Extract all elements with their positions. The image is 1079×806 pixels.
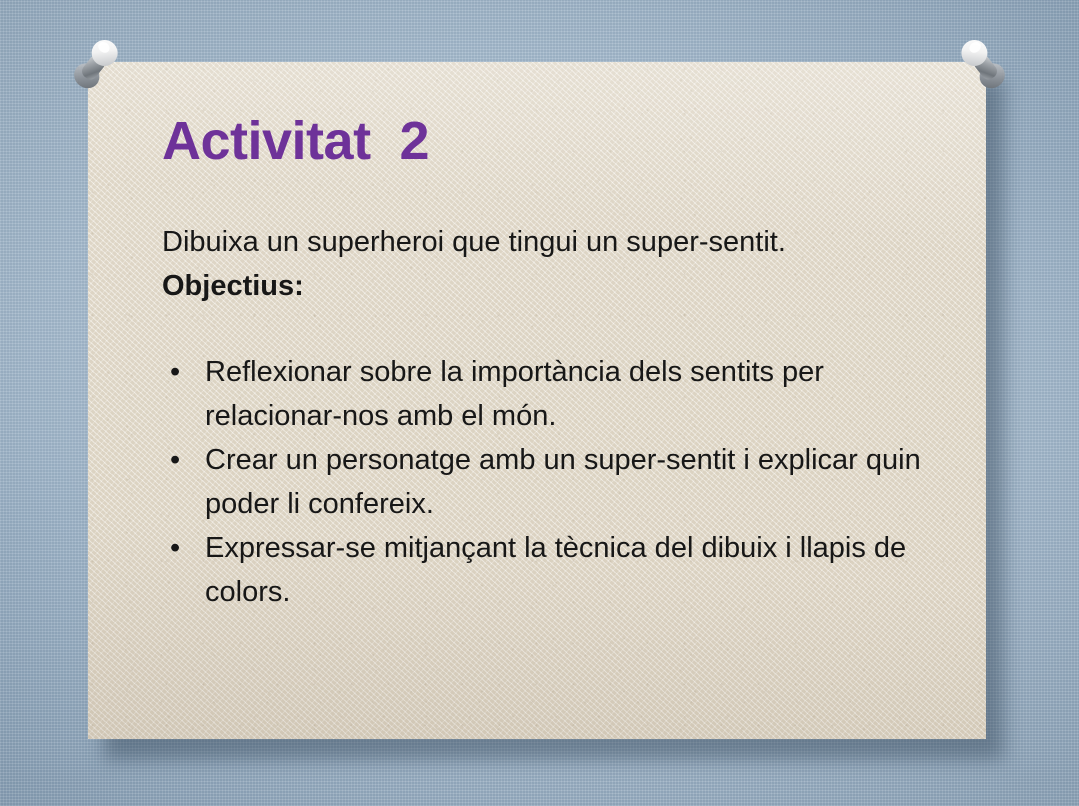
page-title: Activitat 2 (162, 113, 429, 170)
content-spacer (162, 308, 962, 350)
corkboard-background: Activitat 2 Dibuixa un superheroi que ti… (0, 0, 1079, 806)
pushpin-right-icon (955, 33, 1011, 95)
body-text-block: Dibuixa un superheroi que tingui un supe… (162, 220, 962, 614)
bullet-dot-icon: • (170, 438, 180, 482)
paper-sheet: Activitat 2 Dibuixa un superheroi que ti… (88, 62, 986, 739)
slide-content: Activitat 2 Dibuixa un superheroi que ti… (88, 62, 986, 739)
pushpin-left-icon (68, 33, 124, 95)
objectives-list: • Reflexionar sobre la importància dels … (162, 350, 962, 614)
bullet-dot-icon: • (170, 526, 180, 570)
list-item-label: Reflexionar sobre la importància dels se… (205, 356, 824, 432)
list-item-label: Expressar-se mitjançant la tècnica del d… (205, 532, 906, 608)
intro-paragraph: Dibuixa un superheroi que tingui un supe… (162, 220, 862, 264)
bullet-dot-icon: • (170, 350, 180, 394)
list-item: • Expressar-se mitjançant la tècnica del… (162, 526, 962, 614)
list-item: • Reflexionar sobre la importància dels … (162, 350, 962, 438)
objectives-label: Objectius: (162, 264, 962, 308)
list-item-label: Crear un personatge amb un super-sentit … (205, 444, 921, 520)
list-item: • Crear un personatge amb un super-senti… (162, 438, 962, 526)
